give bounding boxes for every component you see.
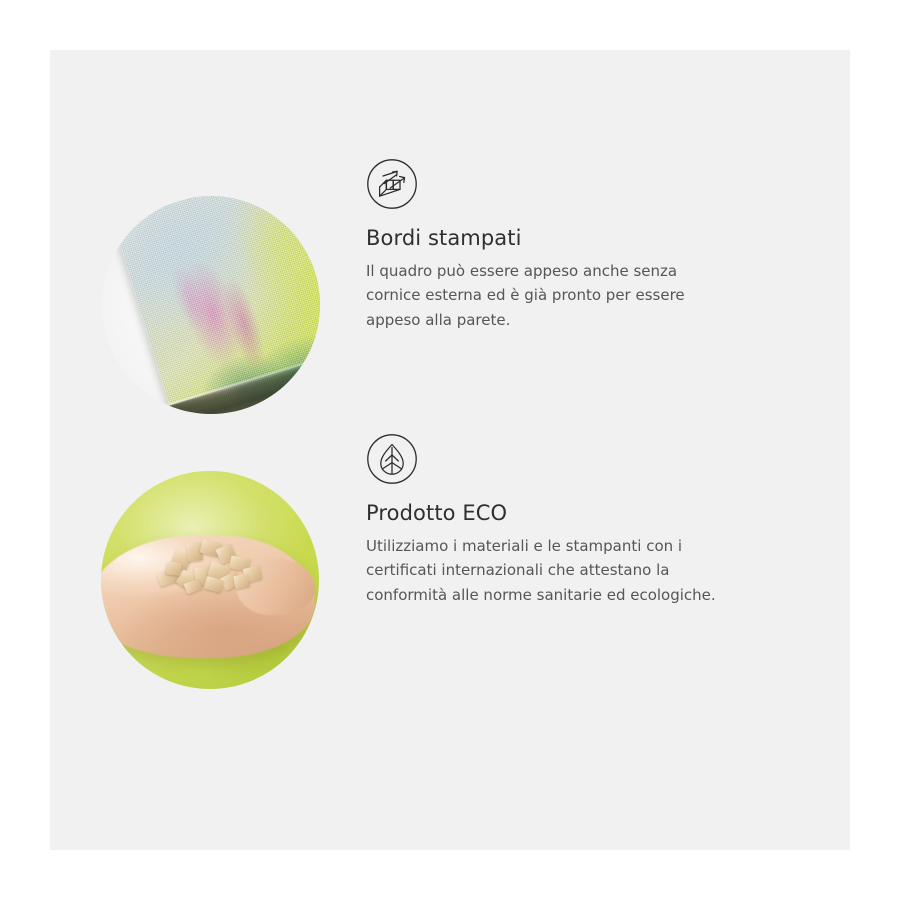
feature-description: Il quadro può essere appeso anche senza …: [366, 259, 728, 332]
feature-title: Prodotto ECO: [366, 501, 736, 526]
feature-description: Utilizziamo i materiali e le stampanti c…: [366, 534, 728, 607]
wood-chips-group: [153, 536, 275, 606]
wood-chip: [233, 574, 250, 589]
printed-edges-icon: [366, 158, 418, 210]
feature-block-printed-edges: Bordi stampati Il quadro può essere appe…: [100, 145, 736, 375]
wood-chip: [165, 561, 181, 576]
feature-content-eco-product: Prodotto ECO Utilizziamo i materiali e l…: [366, 420, 736, 607]
canvas-corner: [113, 196, 320, 414]
hand-holding-wood-chips-photo: [101, 471, 319, 689]
feature-block-eco-product: Prodotto ECO Utilizziamo i materiali e l…: [100, 420, 736, 650]
leaf-icon: [366, 433, 418, 485]
feature-media-eco-product: [100, 420, 330, 650]
eco-photo-background: [101, 471, 319, 689]
feature-title: Bordi stampati: [366, 226, 736, 251]
product-feature-page: Bordi stampati Il quadro può essere appe…: [0, 0, 900, 900]
canvas-printed-edge-photo: [102, 196, 320, 414]
feature-media-printed-edges: [100, 145, 330, 375]
feature-content-printed-edges: Bordi stampati Il quadro può essere appe…: [366, 145, 736, 332]
canvas-photo-background: [102, 196, 320, 414]
